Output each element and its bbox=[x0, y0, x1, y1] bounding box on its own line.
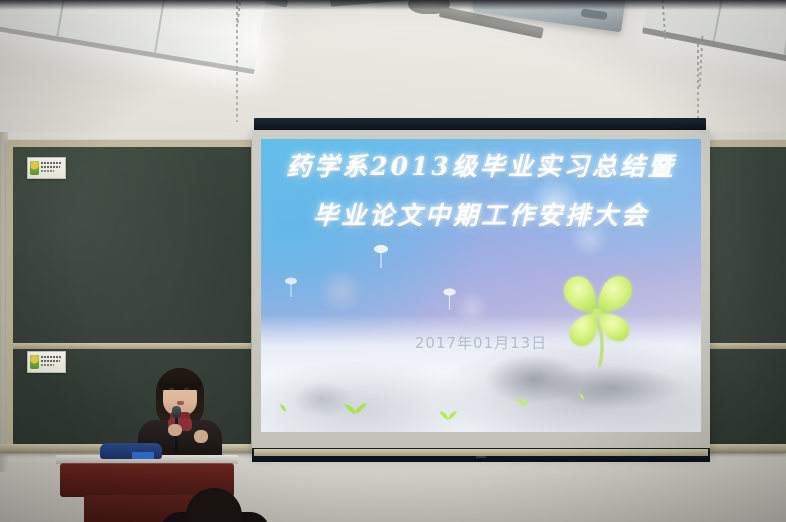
photo-top-shade bbox=[0, 0, 786, 10]
slide-title-line-2: 毕业论文中期工作安排大会 bbox=[261, 203, 701, 228]
green-sprout bbox=[578, 392, 590, 400]
classroom-photo: 药学系2013级毕业实习总结暨 毕业论文中期工作安排大会 2017年01月13日 bbox=[0, 0, 786, 522]
notice-logo-icon bbox=[30, 355, 39, 369]
board-notice-upper bbox=[27, 157, 66, 179]
bokeh-light bbox=[318, 268, 364, 314]
microphone-icon bbox=[172, 406, 181, 418]
slide-title-line-1: 药学系2013级毕业实习总结暨 bbox=[261, 154, 701, 179]
green-sprout bbox=[516, 397, 530, 406]
presenter-hair-front bbox=[159, 370, 201, 390]
board-notice-lower bbox=[27, 351, 66, 373]
green-sprout bbox=[340, 398, 370, 414]
green-sprout bbox=[279, 403, 293, 412]
blackboard-left-divider bbox=[13, 343, 251, 349]
presenter-hand-right bbox=[194, 430, 208, 443]
notice-text-lines bbox=[39, 356, 63, 368]
screen-bottom-trim bbox=[254, 449, 708, 456]
dandelion-seed bbox=[371, 244, 391, 270]
screen-chain-left bbox=[236, 0, 238, 122]
presenter-hand-left bbox=[168, 424, 182, 436]
green-sprout bbox=[437, 407, 459, 420]
projector-lens bbox=[581, 9, 608, 21]
dandelion-seed bbox=[441, 288, 458, 312]
dandelion-seed bbox=[283, 277, 299, 299]
slide-date: 2017年01月13日 bbox=[261, 332, 701, 353]
projection-screen: 药学系2013级毕业实习总结暨 毕业论文中期工作安排大会 2017年01月13日 bbox=[252, 118, 710, 466]
notice-text-lines bbox=[39, 162, 63, 174]
presentation-slide: 药学系2013级毕业实习总结暨 毕业论文中期工作安排大会 2017年01月13日 bbox=[261, 139, 701, 432]
presenter-eye-right bbox=[184, 388, 189, 390]
presenter-mouth bbox=[177, 401, 184, 405]
blue-bag-tag bbox=[132, 452, 154, 459]
notice-logo-icon bbox=[30, 161, 39, 175]
slide-title-block: 药学系2013级毕业实习总结暨 毕业论文中期工作安排大会 bbox=[261, 154, 701, 228]
presenter-eye-left bbox=[169, 388, 174, 390]
four-leaf-clover bbox=[529, 250, 665, 373]
screen-frame: 药学系2013级毕业实习总结暨 毕业论文中期工作安排大会 2017年01月13日 bbox=[252, 130, 710, 454]
